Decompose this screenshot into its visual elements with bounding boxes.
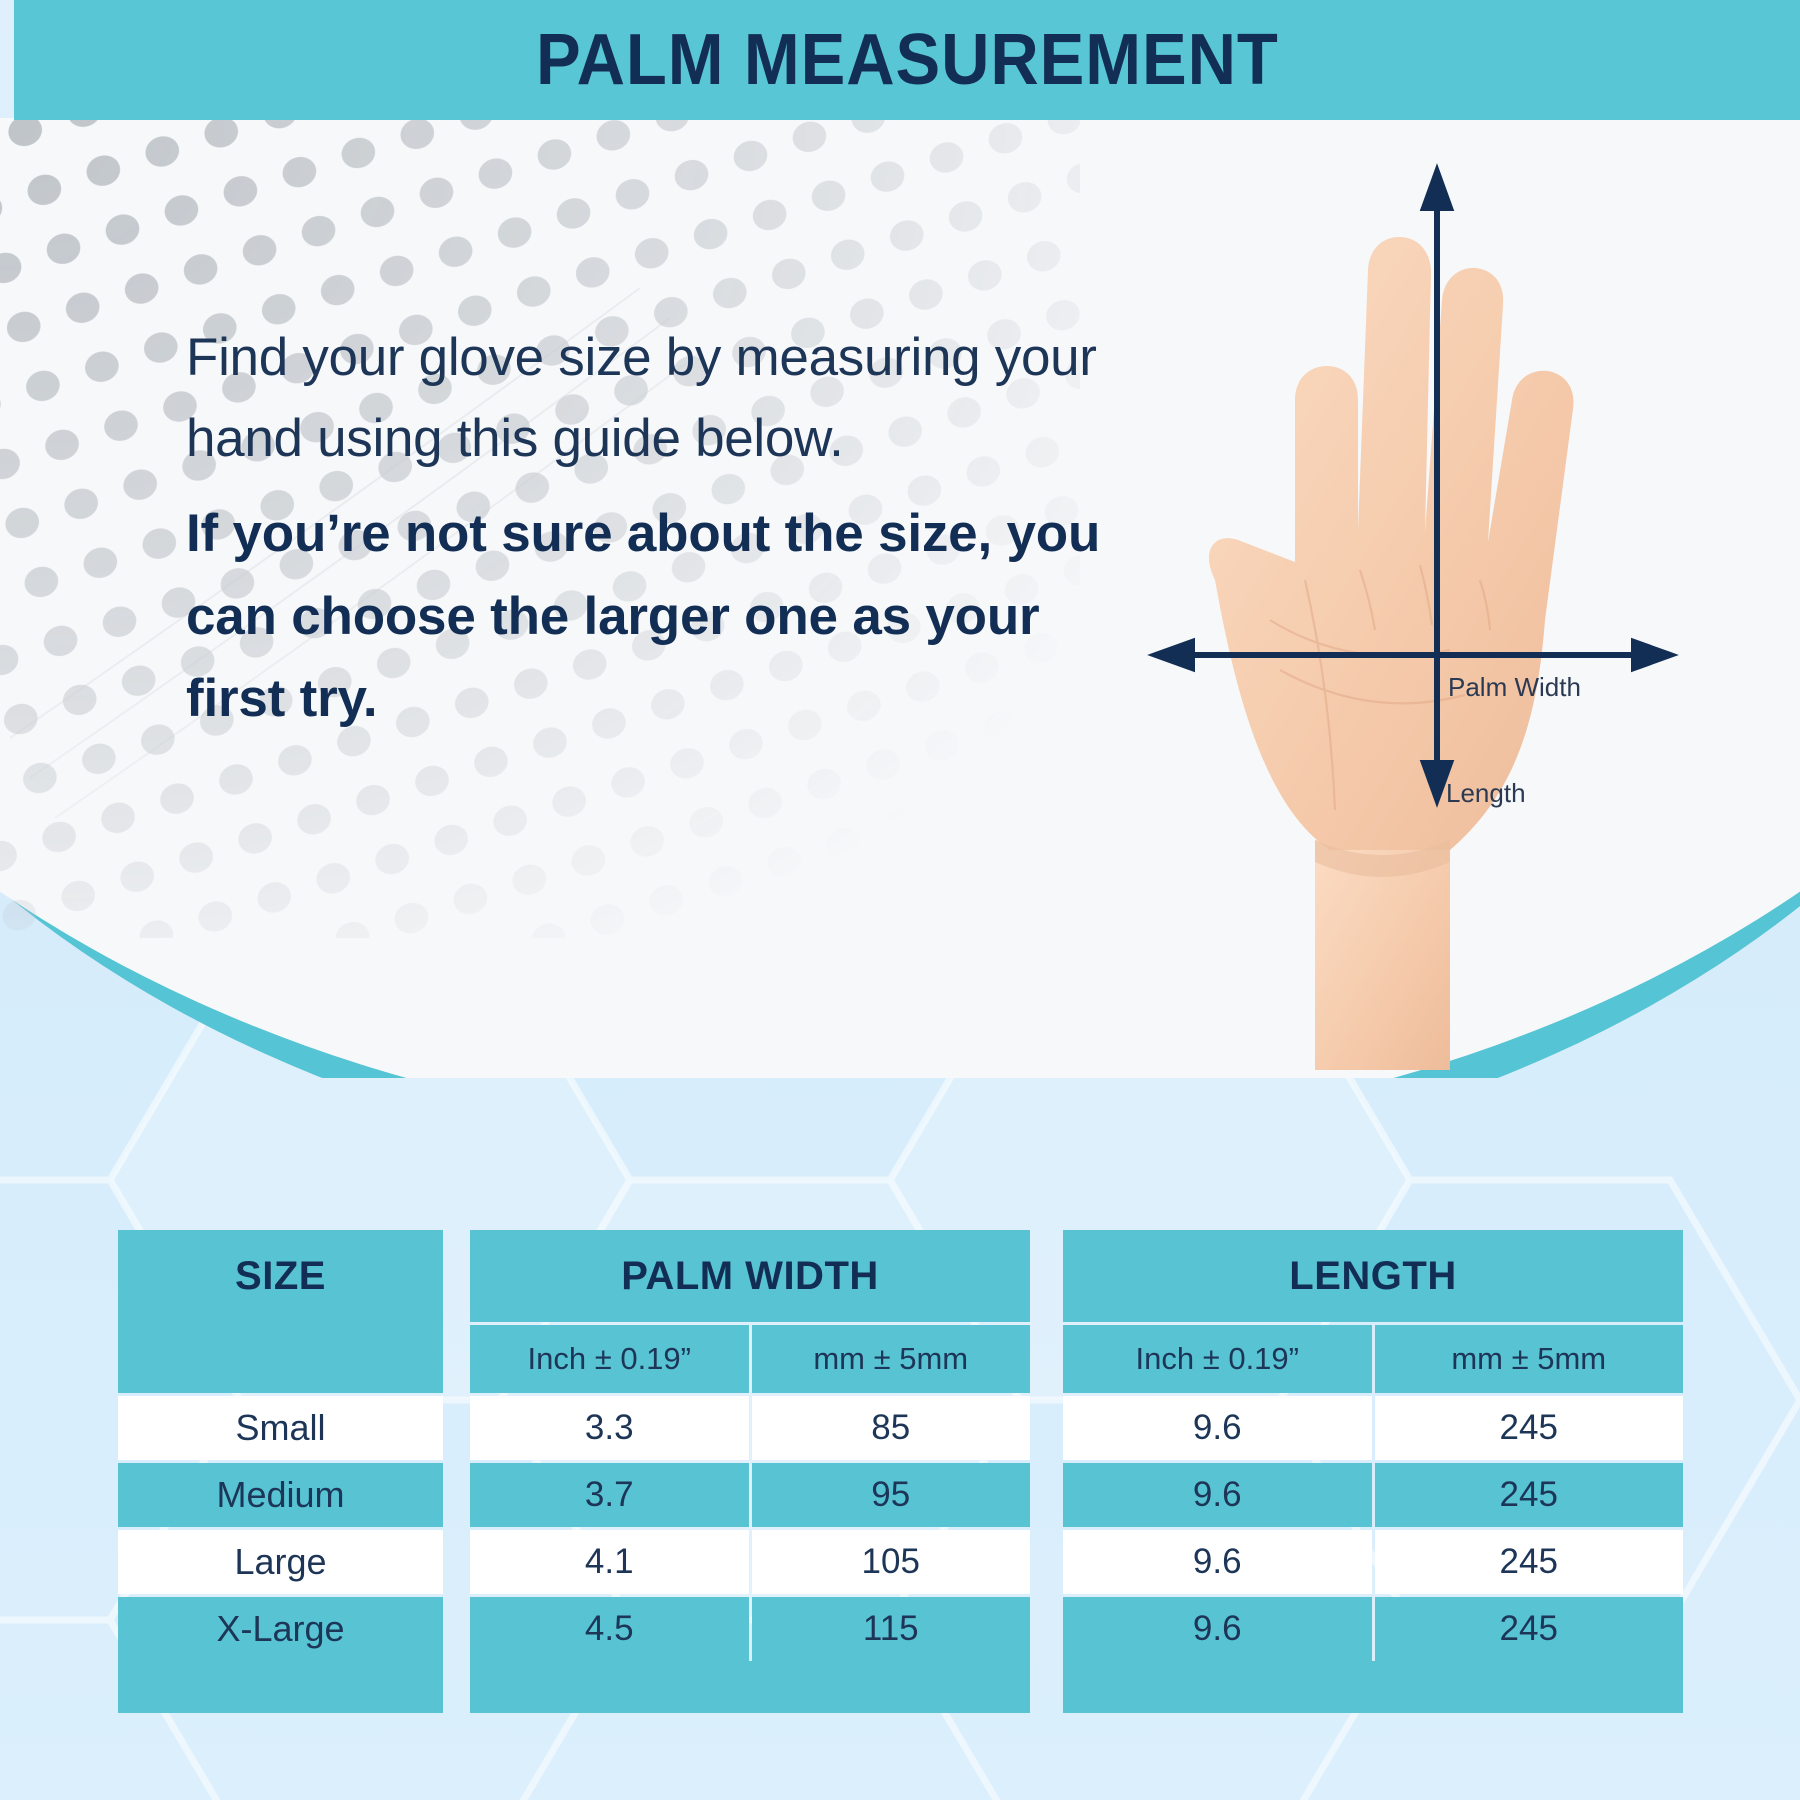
- subheader-row-palm-width: Inch ± 0.19” mm ± 5mm: [470, 1325, 1030, 1393]
- subheader-mm: mm ± 5mm: [752, 1325, 1031, 1393]
- subheader-inch: Inch ± 0.19”: [470, 1325, 749, 1393]
- length-block-tail: [1063, 1661, 1683, 1713]
- cell-length-inch: 9.6: [1063, 1463, 1372, 1527]
- cell-length-mm: 245: [1375, 1530, 1684, 1594]
- cell-length-mm: 245: [1375, 1463, 1684, 1527]
- cell-length-inch: 9.6: [1063, 1396, 1372, 1460]
- cell-width-mm: 95: [752, 1463, 1031, 1527]
- intro-bold-text: If you’re not sure about the size, you c…: [186, 493, 1106, 741]
- cell-length-inch: 9.6: [1063, 1597, 1372, 1661]
- cell-width-mm: 85: [752, 1396, 1031, 1460]
- table-row: 9.6 245: [1063, 1530, 1683, 1594]
- cell-width-mm: 105: [752, 1530, 1031, 1594]
- intro-text-block: Find your glove size by measuring your h…: [186, 318, 1106, 741]
- size-table: SIZE Small Medium Large X-Large PALM WID…: [0, 1230, 1800, 1670]
- table-column-size: SIZE Small Medium Large X-Large: [118, 1230, 443, 1713]
- cell-width-inch: 3.7: [470, 1463, 749, 1527]
- cell-size: X-Large: [118, 1597, 443, 1661]
- table-row: X-Large: [118, 1597, 443, 1661]
- cell-width-mm: 115: [752, 1597, 1031, 1661]
- size-subheader-spacer: [118, 1322, 443, 1393]
- cell-length-inch: 9.6: [1063, 1530, 1372, 1594]
- cell-length-mm: 245: [1375, 1396, 1684, 1460]
- table-row: 9.6 245: [1063, 1597, 1683, 1661]
- page-title: PALM MEASUREMENT: [536, 24, 1279, 96]
- subheader-row-length: Inch ± 0.19” mm ± 5mm: [1063, 1325, 1683, 1393]
- palm-width-label: Palm Width: [1448, 672, 1581, 703]
- width-block-tail: [470, 1661, 1030, 1713]
- size-block-tail: [118, 1661, 443, 1713]
- cell-size: Medium: [118, 1463, 443, 1527]
- subheader-mm: mm ± 5mm: [1375, 1325, 1684, 1393]
- table-row: 4.5 115: [470, 1597, 1030, 1661]
- cell-width-inch: 4.1: [470, 1530, 749, 1594]
- table-row: 3.3 85: [470, 1396, 1030, 1460]
- table-row: Small: [118, 1396, 443, 1460]
- header-banner: PALM MEASUREMENT: [14, 0, 1800, 120]
- length-label: Length: [1446, 778, 1526, 809]
- hand-diagram: [1120, 150, 1680, 1070]
- intro-light-text: Find your glove size by measuring your h…: [186, 318, 1106, 479]
- palm-measurement-infographic: PALM MEASUREMENT Find your glove size by…: [0, 0, 1800, 1800]
- table-row: 4.1 105: [470, 1530, 1030, 1594]
- cell-length-mm: 245: [1375, 1597, 1684, 1661]
- group-header-length: LENGTH: [1063, 1230, 1683, 1322]
- cell-size: Large: [118, 1530, 443, 1594]
- table-column-palm-width: PALM WIDTH Inch ± 0.19” mm ± 5mm 3.3 85 …: [470, 1230, 1030, 1713]
- table-row: 9.6 245: [1063, 1463, 1683, 1527]
- group-header-palm-width: PALM WIDTH: [470, 1230, 1030, 1322]
- subheader-inch: Inch ± 0.19”: [1063, 1325, 1372, 1393]
- hand-palm: [1209, 237, 1574, 850]
- cell-size: Small: [118, 1396, 443, 1460]
- table-row: Large: [118, 1530, 443, 1594]
- table-row: Medium: [118, 1463, 443, 1527]
- cell-width-inch: 3.3: [470, 1396, 749, 1460]
- table-column-length: LENGTH Inch ± 0.19” mm ± 5mm 9.6 245 9.6…: [1063, 1230, 1683, 1713]
- cell-width-inch: 4.5: [470, 1597, 749, 1661]
- table-row: 9.6 245: [1063, 1396, 1683, 1460]
- group-header-size: SIZE: [118, 1230, 443, 1322]
- table-row: 3.7 95: [470, 1463, 1030, 1527]
